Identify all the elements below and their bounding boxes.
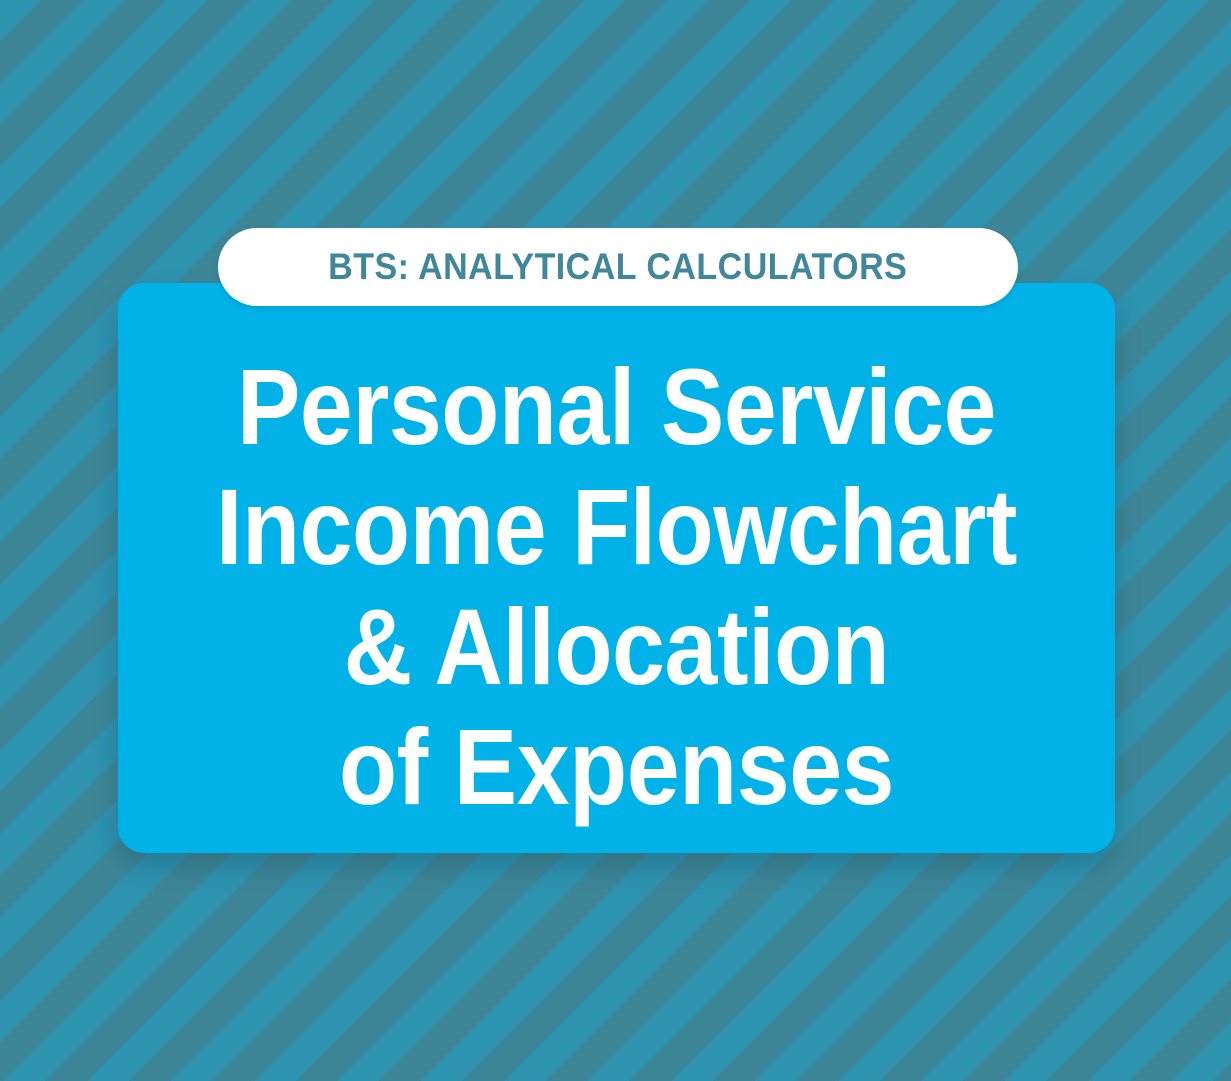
title-line-4: of Expenses xyxy=(178,707,1055,827)
page-title: Personal Service Income Flowchart & Allo… xyxy=(118,347,1115,827)
category-badge: BTS: ANALYTICAL CALCULATORS xyxy=(218,228,1018,306)
title-line-2: Income Flowchart xyxy=(178,467,1055,587)
hero-banner: BTS: ANALYTICAL CALCULATORS Personal Ser… xyxy=(0,0,1231,1081)
title-line-1: Personal Service xyxy=(178,347,1055,467)
title-card: Personal Service Income Flowchart & Allo… xyxy=(118,283,1115,853)
title-line-3: & Allocation xyxy=(178,587,1055,707)
category-badge-label: BTS: ANALYTICAL CALCULATORS xyxy=(328,246,907,288)
